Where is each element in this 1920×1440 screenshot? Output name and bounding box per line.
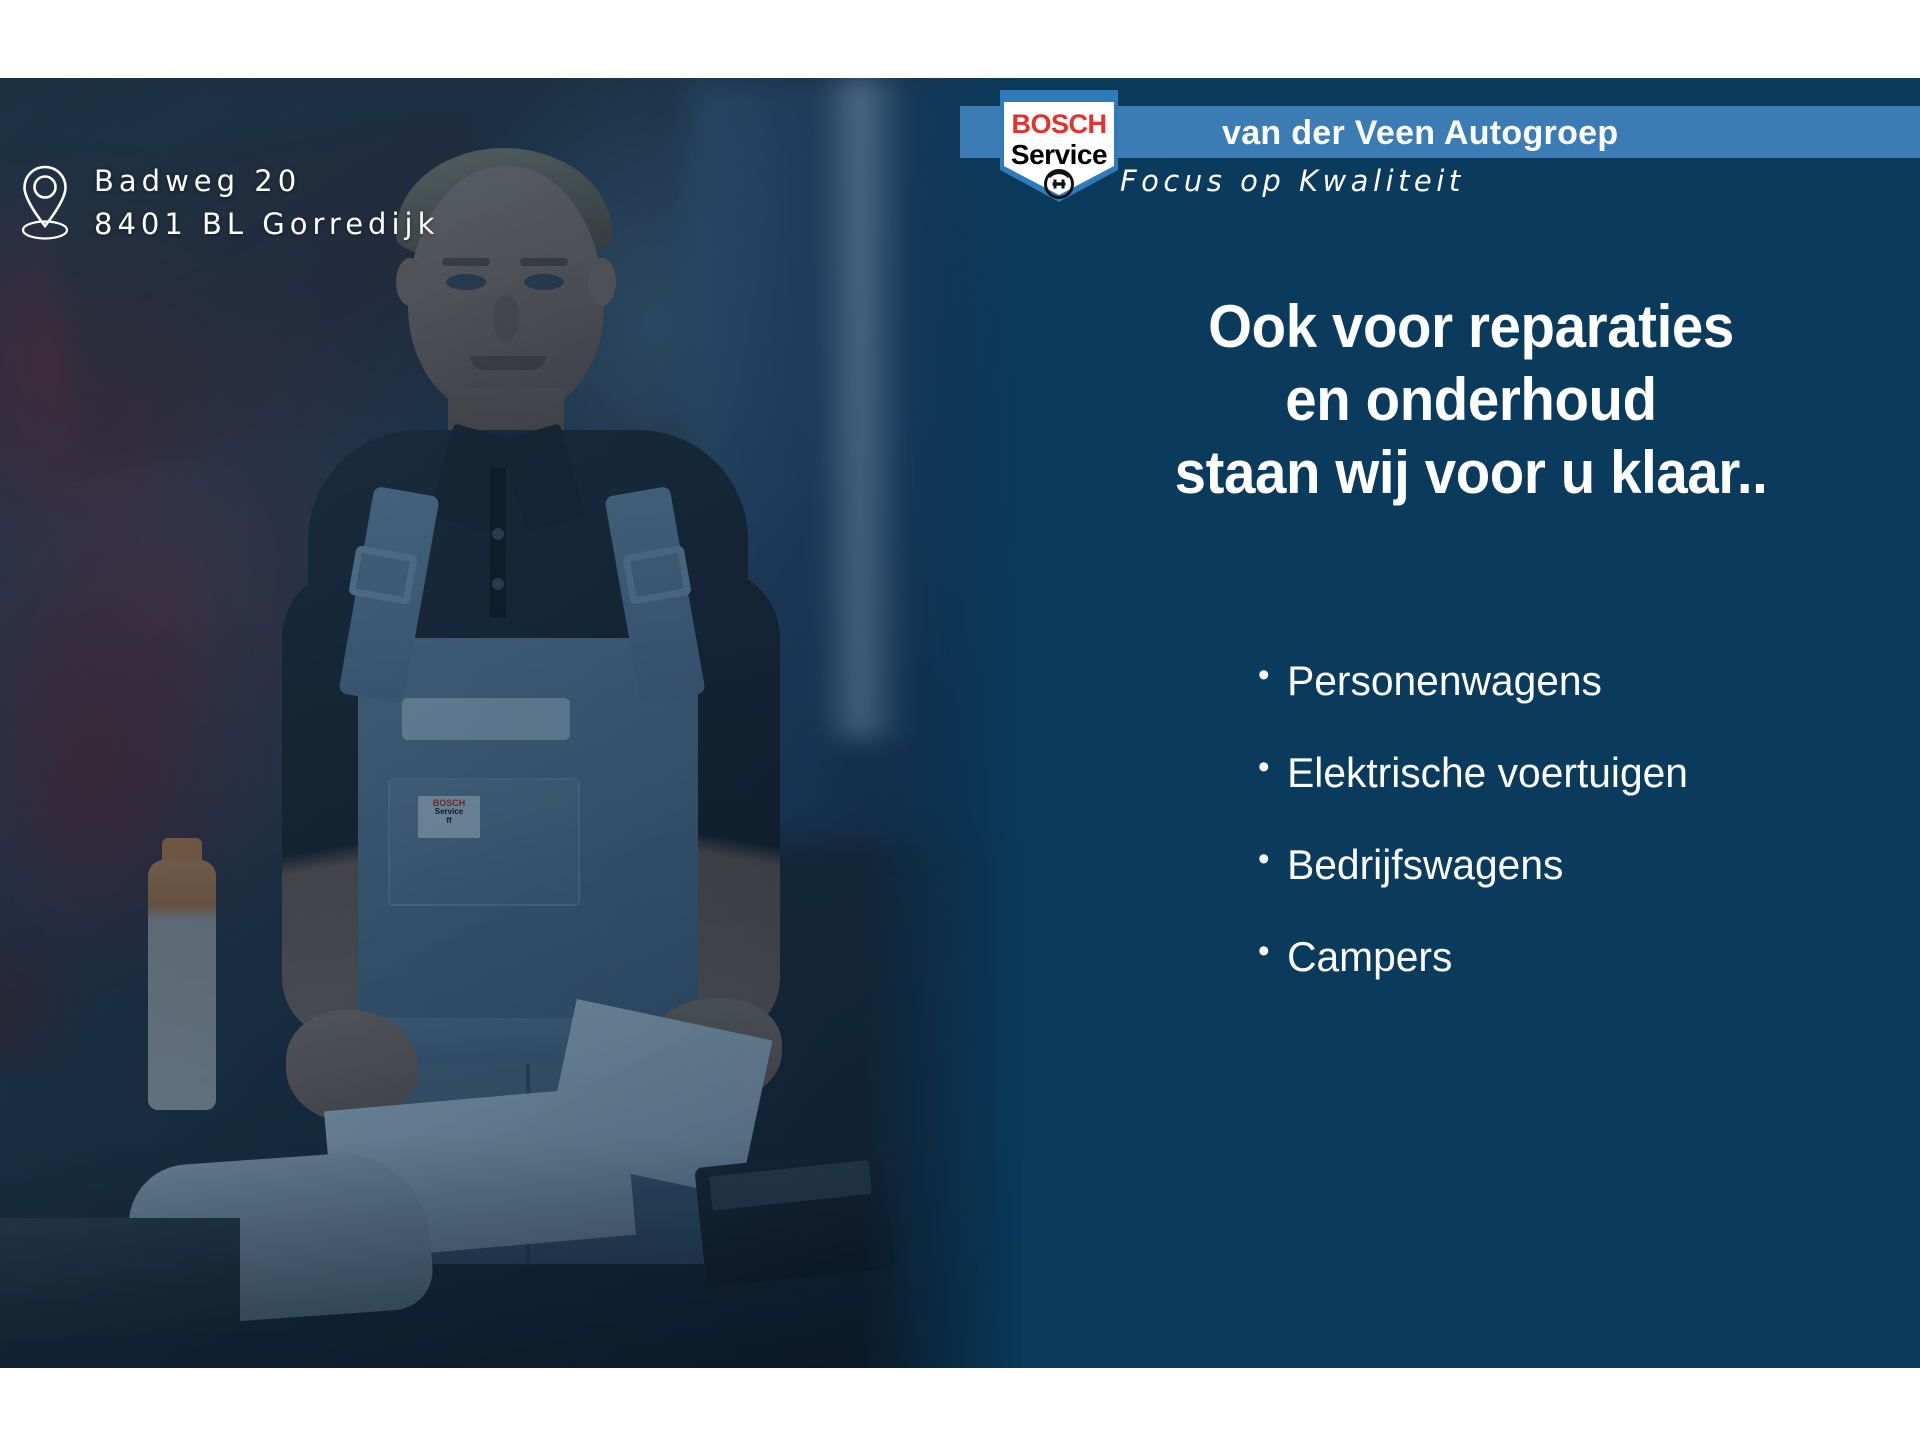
bosch-service-logo: BOSCH Service xyxy=(998,88,1120,204)
company-name: van der Veen Autogroep xyxy=(1222,112,1920,154)
list-item: Bedrijfswagens xyxy=(1258,844,1898,886)
address-lines: Badweg 20 8401 BL Gorredijk xyxy=(94,160,439,246)
headline: Ook voor reparaties en onderhoud staan w… xyxy=(1022,290,1920,510)
brand-tagline: Focus op Kwaliteit xyxy=(1120,164,1465,198)
headline-line-2: en onderhoud xyxy=(1049,363,1893,436)
svg-text:Service: Service xyxy=(1011,139,1107,170)
location-pin-icon xyxy=(20,164,70,242)
list-item: Personenwagens xyxy=(1258,660,1898,702)
services-list: Personenwagens Elektrische voertuigen Be… xyxy=(1258,660,1918,1028)
content-panel: van der Veen Autogroep Focus op Kwalitei… xyxy=(1022,78,1920,1368)
list-item: Campers xyxy=(1258,936,1898,978)
headline-line-1: Ook voor reparaties xyxy=(1049,290,1893,363)
mechanic-photo: BOSCH Service ff xyxy=(0,78,1022,1368)
address-block: Badweg 20 8401 BL Gorredijk xyxy=(20,160,439,246)
banner-body: BOSCH Service ff xyxy=(0,78,1920,1368)
advertisement-banner: BOSCH Service ff xyxy=(0,0,1920,1440)
headline-line-3: staan wij voor u klaar.. xyxy=(1049,436,1893,509)
brand-lockup: van der Veen Autogroep Focus op Kwalitei… xyxy=(1022,78,1920,278)
list-item: Elektrische voertuigen xyxy=(1258,752,1898,794)
address-line-1: Badweg 20 xyxy=(94,160,439,203)
svg-text:BOSCH: BOSCH xyxy=(1011,109,1106,139)
address-line-2: 8401 BL Gorredijk xyxy=(94,203,439,246)
photo-right-fade xyxy=(862,78,1022,1368)
